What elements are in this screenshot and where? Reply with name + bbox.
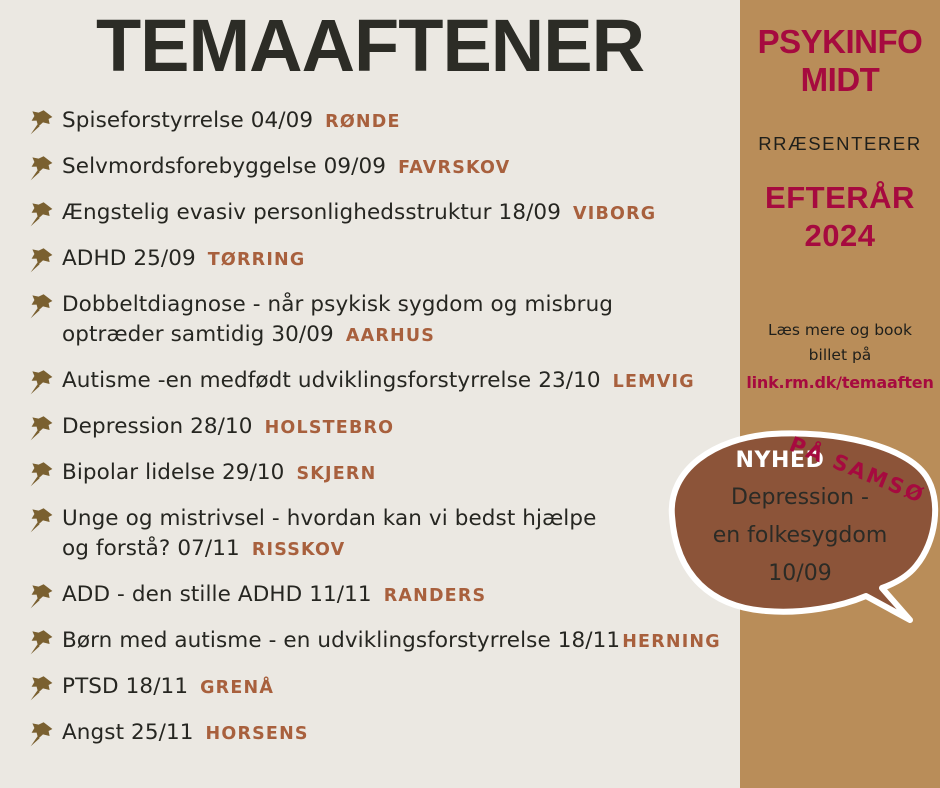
event-title: Ængstelig evasiv personlighedsstruktur 1…	[62, 200, 561, 225]
event-title-line2-text: optræder samtidig 30/09	[62, 322, 334, 347]
event-title-line2-text: og forstå? 07/11	[62, 536, 240, 561]
event-city: RISSKOV	[252, 540, 346, 560]
event-row: Angst 25/11HORSENS	[22, 716, 740, 762]
event-city: TØRRING	[208, 250, 306, 270]
booking-url-link[interactable]: link.rm.dk/temaaften	[746, 370, 934, 395]
event-city: AARHUS	[346, 326, 435, 346]
event-text: Unge og mistrivsel - hvordan kan vi beds…	[62, 502, 740, 565]
event-pin-cell	[22, 670, 62, 702]
event-text: ADD - den stille ADHD 11/11RANDERS	[62, 578, 740, 611]
presents-label: RRÆSENTERER	[740, 133, 940, 155]
pushpin-icon	[29, 582, 55, 610]
event-pin-cell	[22, 104, 62, 136]
bubble-line-3: 10/09	[684, 555, 916, 593]
event-pin-cell	[22, 242, 62, 274]
event-city: LEMVIG	[613, 372, 695, 392]
event-row: Bipolar lidelse 29/10SKJERN	[22, 456, 740, 502]
event-row: Ængstelig evasiv personlighedsstruktur 1…	[22, 196, 740, 242]
event-pin-cell	[22, 410, 62, 442]
event-row: Depression 28/10HOLSTEBRO	[22, 410, 740, 456]
event-pin-cell	[22, 150, 62, 182]
event-row: Spiseforstyrrelse 04/09RØNDE	[22, 104, 740, 150]
event-text: Autisme -en medfødt udviklingsforstyrrel…	[62, 364, 740, 397]
event-pin-cell	[22, 624, 62, 656]
pushpin-icon	[29, 720, 55, 748]
main-content-column: TEMAAFTENER Spiseforstyrrelse 04/09RØNDE…	[0, 0, 740, 788]
event-city: SKJERN	[296, 464, 376, 484]
pushpin-icon	[29, 414, 55, 442]
event-title: Dobbeltdiagnose - når psykisk sygdom og …	[62, 292, 613, 317]
pushpin-icon	[29, 246, 55, 274]
pushpin-icon	[29, 460, 55, 488]
pushpin-icon	[29, 108, 55, 136]
pushpin-icon	[29, 154, 55, 182]
event-city: RØNDE	[325, 112, 400, 132]
bubble-line-2: en folkesygdom	[684, 517, 916, 555]
event-text: Angst 25/11HORSENS	[62, 716, 740, 749]
event-row: Dobbeltdiagnose - når psykisk sygdom og …	[22, 288, 740, 364]
event-title-line2: optræder samtidig 30/09AARHUS	[62, 320, 740, 351]
event-title: Spiseforstyrrelse 04/09	[62, 108, 313, 133]
event-row: Autisme -en medfødt udviklingsforstyrrel…	[22, 364, 740, 410]
event-city: HOLSTEBRO	[265, 418, 395, 438]
booking-line2: billet på	[809, 346, 872, 364]
event-text: Depression 28/10HOLSTEBRO	[62, 410, 740, 443]
event-title: ADD - den stille ADHD 11/11	[62, 582, 372, 607]
event-title: Angst 25/11	[62, 720, 194, 745]
event-text: Bipolar lidelse 29/10SKJERN	[62, 456, 740, 489]
event-pin-cell	[22, 196, 62, 228]
event-city: GRENÅ	[200, 678, 274, 698]
brand-name-line2: MIDT	[740, 62, 940, 98]
event-title: Autisme -en medfødt udviklingsforstyrrel…	[62, 368, 601, 393]
event-title-line2: og forstå? 07/11RISSKOV	[62, 534, 740, 565]
booking-line1: Læs mere og book	[768, 321, 912, 339]
event-row: ADHD 25/09TØRRING	[22, 242, 740, 288]
pushpin-icon	[29, 674, 55, 702]
event-text: Børn med autisme - en udviklingsforstyrr…	[62, 624, 740, 657]
event-city: VIBORG	[573, 204, 656, 224]
brand-name-line1: PSYKINFO	[740, 24, 940, 60]
season-year: 2024	[740, 218, 940, 254]
booking-info: Læs mere og book billet på link.rm.dk/te…	[746, 318, 934, 395]
event-title: Depression 28/10	[62, 414, 253, 439]
event-pin-cell	[22, 364, 62, 396]
event-pin-cell	[22, 716, 62, 748]
event-pin-cell	[22, 288, 62, 320]
event-row: ADD - den stille ADHD 11/11RANDERS	[22, 578, 740, 624]
event-title: Selvmordsforebyggelse 09/09	[62, 154, 386, 179]
event-row: Unge og mistrivsel - hvordan kan vi beds…	[22, 502, 740, 578]
event-text: Selvmordsforebyggelse 09/09FAVRSKOV	[62, 150, 740, 183]
event-row: Selvmordsforebyggelse 09/09FAVRSKOV	[22, 150, 740, 196]
event-text: Dobbeltdiagnose - når psykisk sygdom og …	[62, 288, 740, 351]
season-label: EFTERÅR	[740, 180, 940, 216]
page-title: TEMAAFTENER	[0, 8, 740, 83]
event-list: Spiseforstyrrelse 04/09RØNDESelvmordsfor…	[22, 104, 740, 762]
pushpin-icon	[29, 200, 55, 228]
pushpin-icon	[29, 292, 55, 320]
event-title: Bipolar lidelse 29/10	[62, 460, 284, 485]
poster-canvas: TEMAAFTENER Spiseforstyrrelse 04/09RØNDE…	[0, 0, 940, 788]
event-text: PTSD 18/11GRENÅ	[62, 670, 740, 703]
event-text: ADHD 25/09TØRRING	[62, 242, 740, 275]
pushpin-icon	[29, 628, 55, 656]
event-city: HORSENS	[206, 724, 309, 744]
event-title: Børn med autisme - en udviklingsforstyrr…	[62, 628, 620, 653]
event-row: Børn med autisme - en udviklingsforstyrr…	[22, 624, 740, 670]
event-row: PTSD 18/11GRENÅ	[22, 670, 740, 716]
event-city: FAVRSKOV	[398, 158, 510, 178]
event-title: ADHD 25/09	[62, 246, 196, 271]
event-text: Ængstelig evasiv personlighedsstruktur 1…	[62, 196, 740, 229]
event-city: RANDERS	[384, 586, 487, 606]
sidebar-panel: PSYKINFO MIDT RRÆSENTERER EFTERÅR 2024 L…	[740, 0, 940, 788]
event-pin-cell	[22, 502, 62, 534]
event-title: Unge og mistrivsel - hvordan kan vi beds…	[62, 506, 596, 531]
event-title: PTSD 18/11	[62, 674, 188, 699]
event-pin-cell	[22, 578, 62, 610]
pushpin-icon	[29, 506, 55, 534]
event-text: Spiseforstyrrelse 04/09RØNDE	[62, 104, 740, 137]
event-pin-cell	[22, 456, 62, 488]
pushpin-icon	[29, 368, 55, 396]
